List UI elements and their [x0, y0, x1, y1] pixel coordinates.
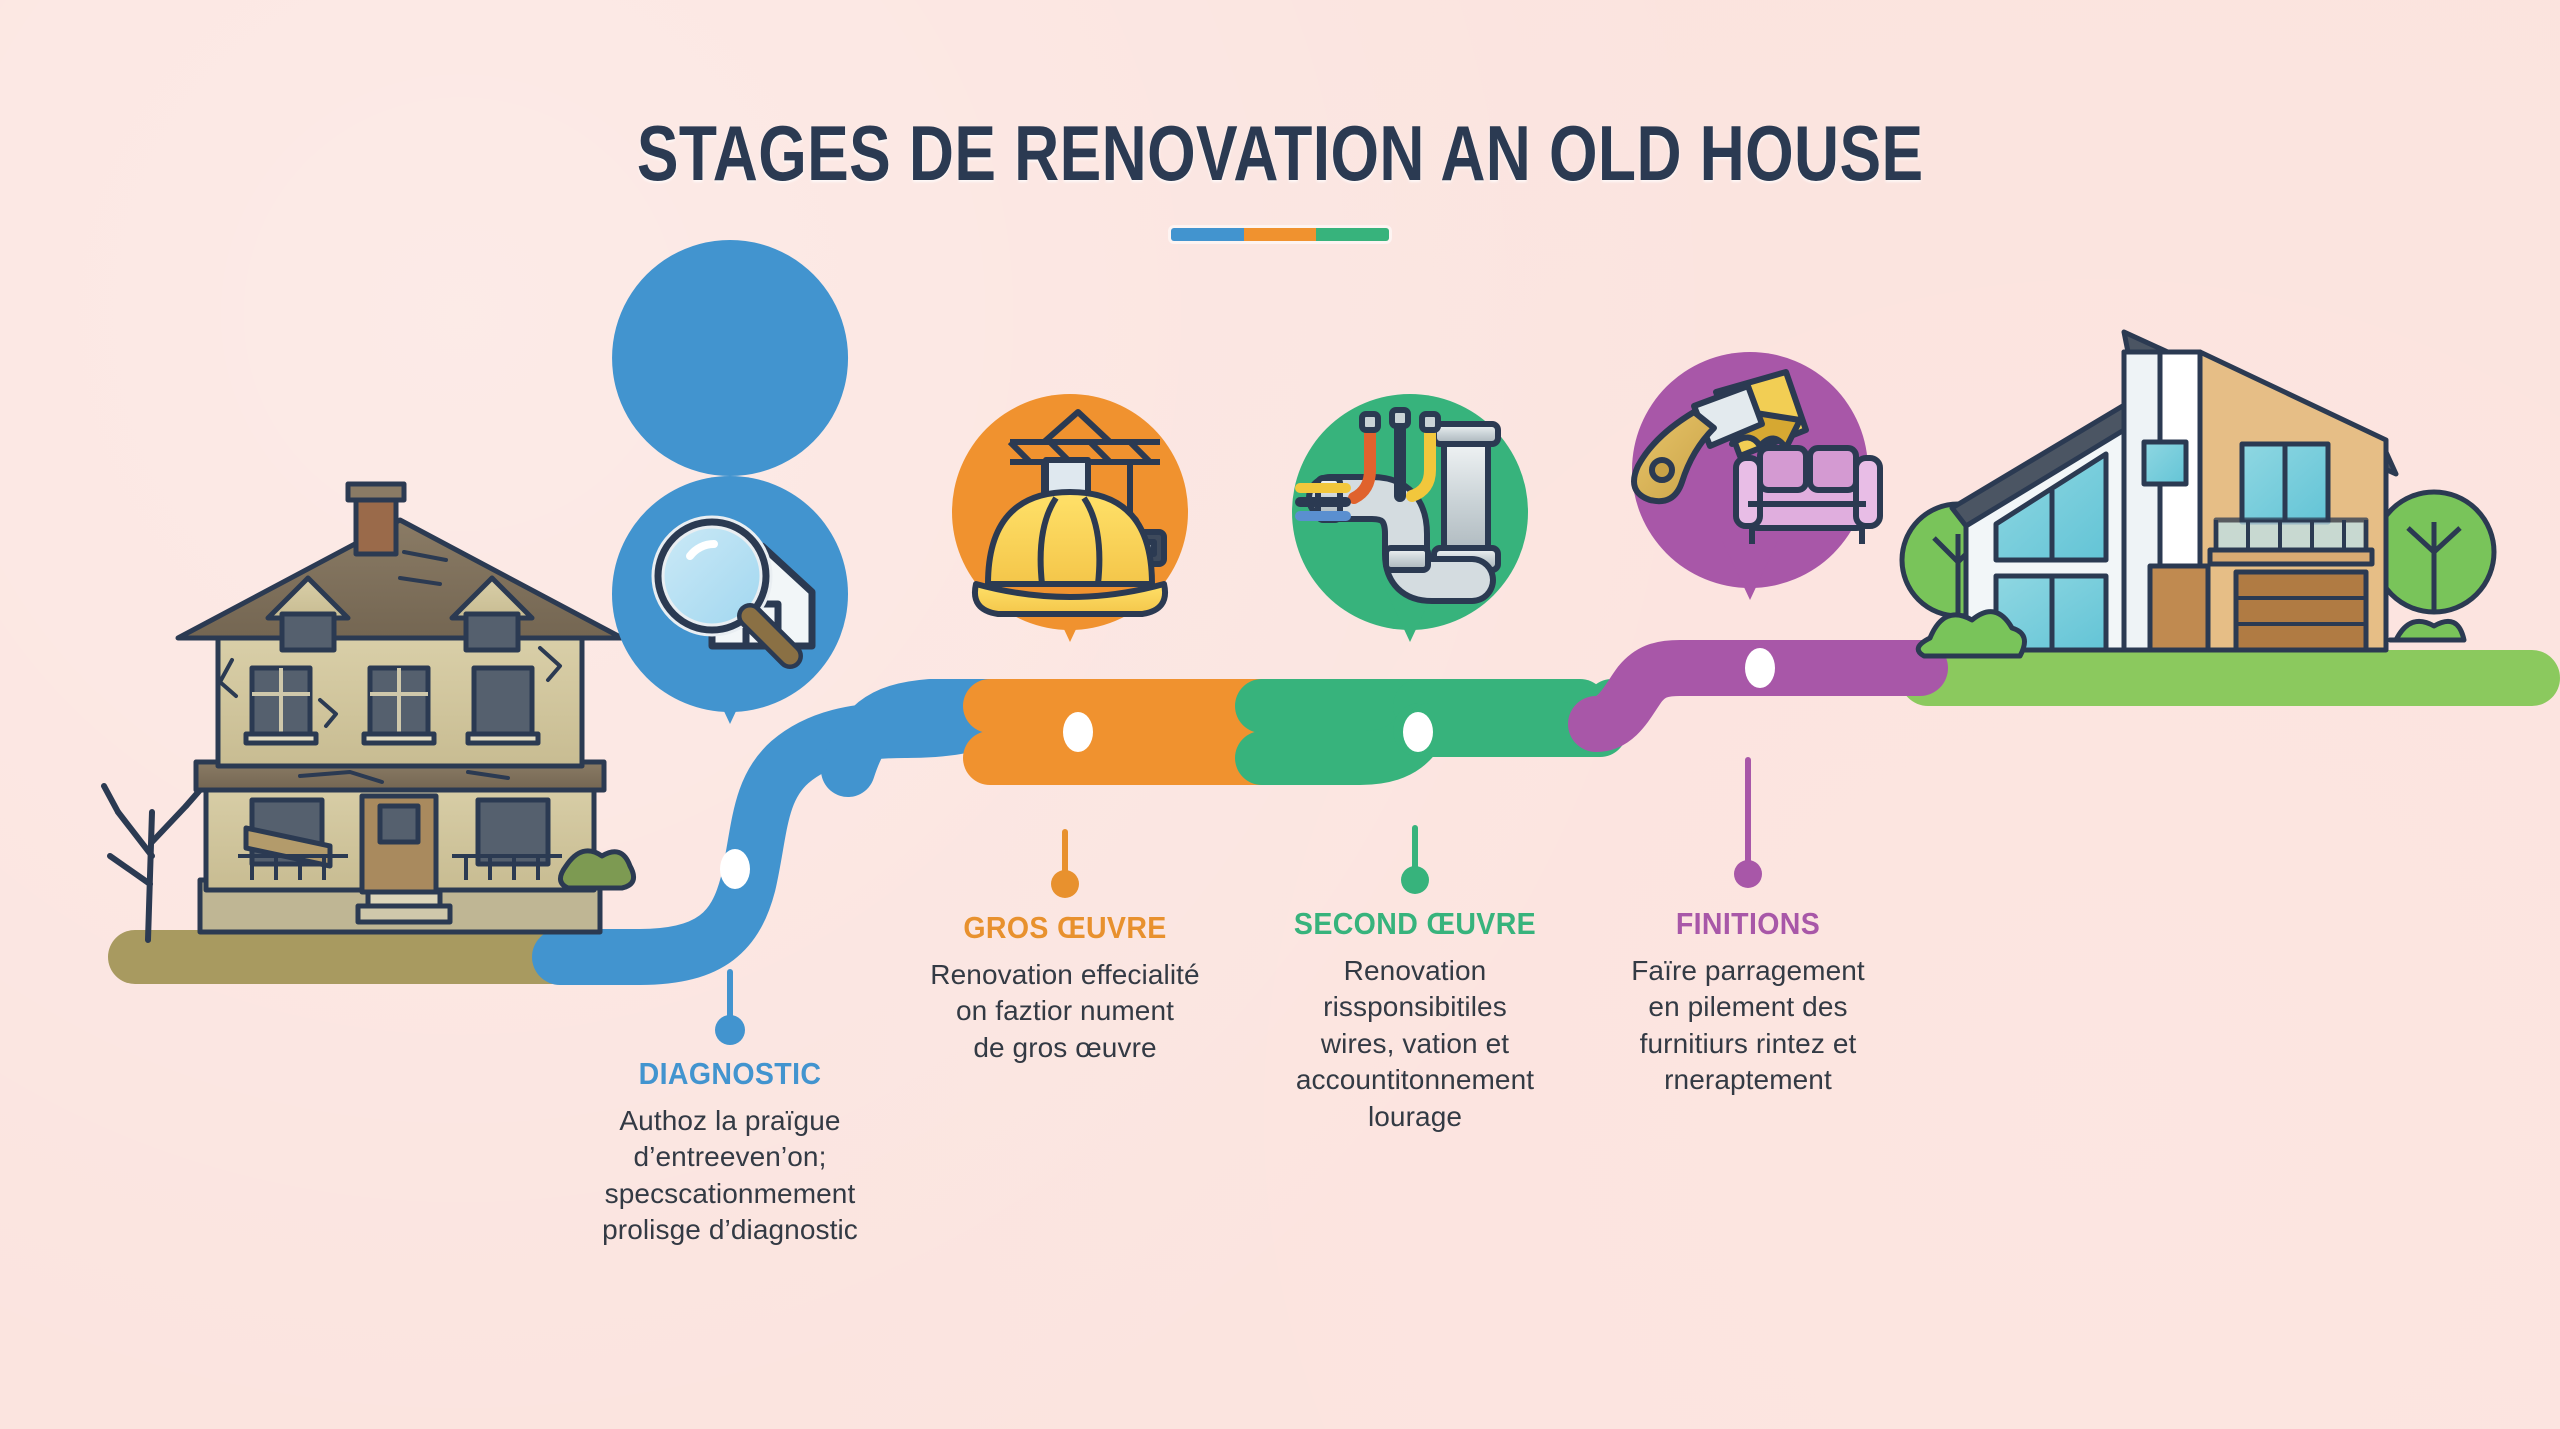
step-title-second-oeuvre: SECOND ŒUVRE — [1263, 906, 1567, 942]
desc-line: furnitiurs rintez et — [1640, 1028, 1857, 1059]
desc-line: accountitonnement — [1296, 1064, 1534, 1095]
step-block-finitions[interactable]: FINITIONS Faïre parragement en pilement … — [1583, 906, 1913, 1099]
step-title-gros-oeuvre: GROS ŒUVRE — [913, 910, 1217, 946]
step-connector-diagnostic — [715, 972, 745, 1045]
desc-line: Faïre parragement — [1631, 955, 1865, 986]
pin-gros-oeuvre[interactable] — [952, 394, 1188, 642]
step-connector-second-oeuvre — [1401, 828, 1429, 894]
desc-line: wires, vation et — [1321, 1028, 1509, 1059]
step-block-second-oeuvre[interactable]: SECOND ŒUVRE Renovation rissponsibitiles… — [1250, 906, 1580, 1135]
accent-segment-orange — [1244, 228, 1317, 241]
desc-line: Authoz la praïgue — [619, 1105, 840, 1136]
desc-line: Renovation effecialité — [930, 959, 1199, 990]
step-desc-diagnostic: Authoz la praïgue d’entreeven’on; specsc… — [565, 1103, 895, 1249]
desc-line: en pilement des — [1648, 991, 1847, 1022]
step-desc-gros-oeuvre: Renovation effecialité on faztior nument… — [900, 957, 1230, 1066]
title-accent-bar — [1171, 228, 1389, 241]
desc-line: de gros œuvre — [973, 1032, 1156, 1063]
step-connector-gros-oeuvre — [1051, 832, 1079, 898]
scene-illustration — [0, 0, 2560, 1429]
step-title-finitions: FINITIONS — [1596, 906, 1900, 942]
pin-finitions[interactable] — [1632, 352, 1880, 600]
pin-diagnostic[interactable] — [612, 240, 848, 724]
desc-line: on faztior nument — [956, 995, 1174, 1026]
page-title: STAGES DE RENOVATION AN OLD HOUSE — [637, 108, 1924, 199]
desc-line: rneraptement — [1664, 1064, 1832, 1095]
desc-line: d’entreeven’on; — [634, 1141, 827, 1172]
infographic-canvas: STAGES DE RENOVATION AN OLD HOUSE DIAGNO… — [0, 0, 2560, 1429]
accent-segment-green — [1316, 228, 1389, 241]
desc-line: rissponsibitiles — [1323, 991, 1507, 1022]
desc-line: Renovation — [1344, 955, 1487, 986]
step-block-gros-oeuvre[interactable]: GROS ŒUVRE Renovation effecialité on faz… — [900, 910, 1230, 1066]
accent-segment-blue — [1171, 228, 1244, 241]
old-ground-strip — [108, 930, 588, 984]
desc-line: specscationmement — [605, 1178, 856, 1209]
step-title-diagnostic: DIAGNOSTIC — [578, 1056, 882, 1092]
modern-house-illustration — [1902, 332, 2494, 656]
step-desc-second-oeuvre: Renovation rissponsibitiles wires, vatio… — [1250, 953, 1580, 1135]
old-house-illustration — [104, 484, 634, 940]
tree-right-icon — [2374, 492, 2494, 614]
step-desc-finitions: Faïre parragement en pilement des furnit… — [1583, 953, 1913, 1099]
desc-line: lourage — [1368, 1101, 1462, 1132]
pin-second-oeuvre[interactable] — [1292, 394, 1528, 642]
step-block-diagnostic[interactable]: DIAGNOSTIC Authoz la praïgue d’entreeven… — [565, 1056, 895, 1249]
bare-tree-icon — [104, 786, 200, 940]
step-connector-finitions — [1734, 760, 1762, 888]
page-title-wrap: STAGES DE RENOVATION AN OLD HOUSE — [0, 108, 2560, 199]
desc-line: prolisge d’diagnostic — [602, 1214, 858, 1245]
